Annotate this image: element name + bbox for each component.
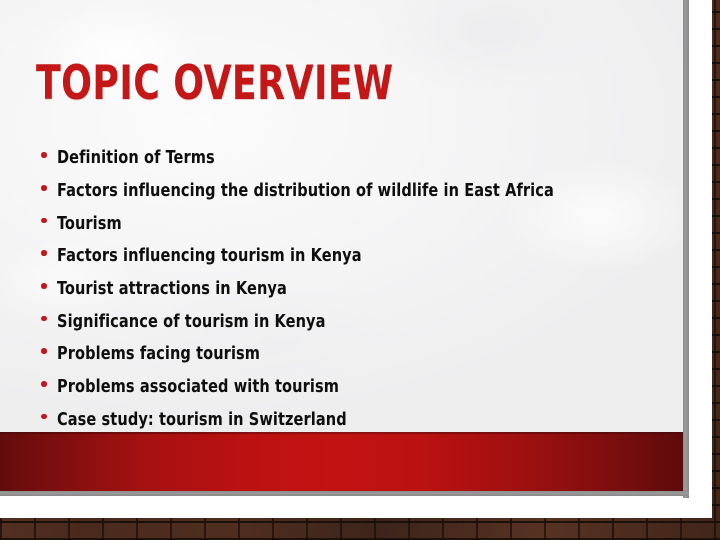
bullet-dot-icon bbox=[41, 348, 47, 354]
bullet-dot-icon bbox=[41, 414, 47, 420]
list-item: Factors influencing tourism in Kenya bbox=[36, 240, 656, 273]
list-item-label: Factors influencing tourism in Kenya bbox=[57, 246, 362, 266]
slide-backdrop: TOPIC OVERVIEW Definition of Terms Facto… bbox=[0, 0, 720, 540]
topic-overview-list: Definition of Terms Factors influencing … bbox=[36, 142, 656, 436]
list-item-label: Tourism bbox=[57, 214, 122, 234]
list-item-label: Definition of Terms bbox=[57, 148, 215, 168]
bullet-dot-icon bbox=[41, 250, 47, 256]
list-item-label: Tourist attractions in Kenya bbox=[57, 279, 287, 299]
bullet-dot-icon bbox=[41, 185, 47, 191]
list-item-label: Problems associated with tourism bbox=[57, 377, 339, 397]
page-title: TOPIC OVERVIEW bbox=[36, 58, 393, 110]
list-item-label: Case study: tourism in Switzerland bbox=[57, 410, 347, 430]
slide-card: TOPIC OVERVIEW Definition of Terms Facto… bbox=[0, 0, 712, 518]
list-item: Problems facing tourism bbox=[36, 338, 656, 371]
slide-frame-right-rule bbox=[683, 0, 689, 498]
slide-surface: TOPIC OVERVIEW Definition of Terms Facto… bbox=[0, 0, 683, 491]
list-item: Significance of tourism in Kenya bbox=[36, 305, 656, 338]
list-item: Definition of Terms bbox=[36, 142, 656, 175]
bullet-dot-icon bbox=[41, 218, 47, 224]
footer-accent-band bbox=[0, 432, 683, 491]
list-item: Problems associated with tourism bbox=[36, 371, 656, 404]
bullet-dot-icon bbox=[41, 316, 47, 322]
list-item-label: Significance of tourism in Kenya bbox=[57, 312, 326, 332]
list-item-label: Problems facing tourism bbox=[57, 344, 260, 364]
slide-frame-bottom-rule bbox=[0, 491, 689, 496]
bullet-dot-icon bbox=[41, 283, 47, 289]
list-item: Factors influencing the distribution of … bbox=[36, 175, 656, 208]
bullet-dot-icon bbox=[41, 152, 47, 158]
list-item-label: Factors influencing the distribution of … bbox=[57, 181, 554, 201]
list-item: Tourism bbox=[36, 207, 656, 240]
list-item: Tourist attractions in Kenya bbox=[36, 273, 656, 306]
bullet-dot-icon bbox=[41, 381, 47, 387]
footer-accent-topline bbox=[0, 432, 683, 434]
